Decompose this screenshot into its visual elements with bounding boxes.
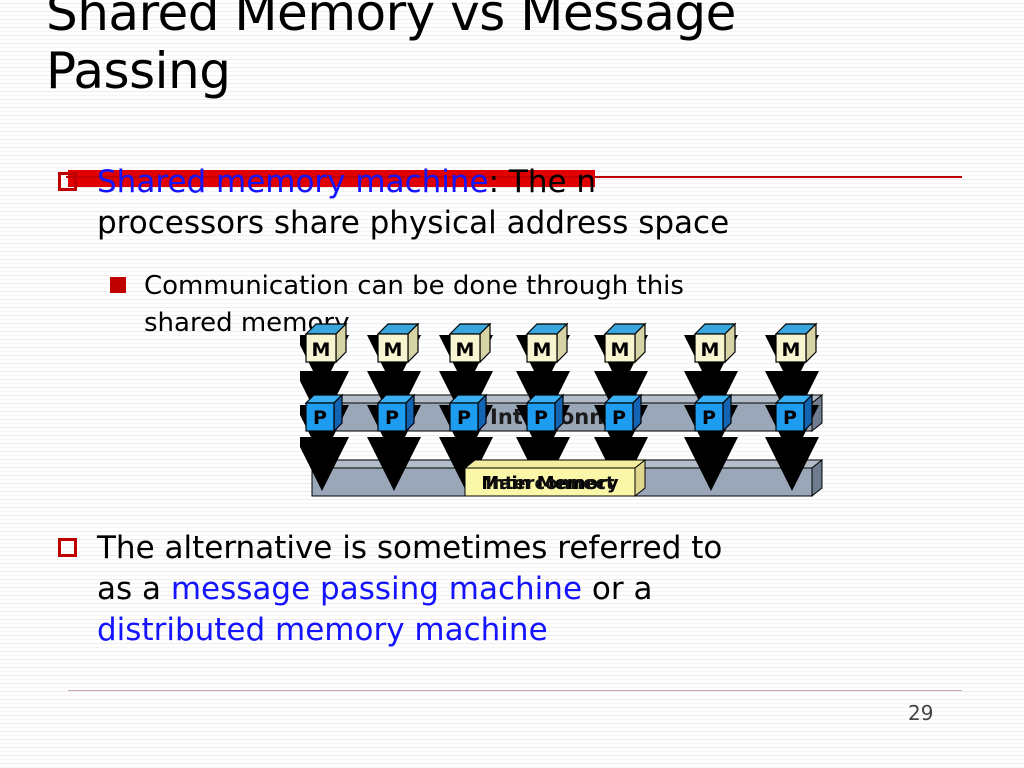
processor-node: P xyxy=(378,395,414,431)
svg-text:P: P xyxy=(702,407,716,429)
svg-text:P: P xyxy=(313,407,327,429)
hollow-square-bullet-icon xyxy=(58,538,77,557)
svg-text:P: P xyxy=(457,407,471,429)
svg-text:P: P xyxy=(612,407,626,429)
hollow-square-bullet-icon xyxy=(58,172,77,191)
svg-text:P: P xyxy=(534,407,548,429)
bullet-alternative: The alternative is sometimes referred to… xyxy=(58,528,978,651)
interconnect-label-overlap: Interconnect xyxy=(485,473,615,494)
page-number: 29 xyxy=(908,701,933,725)
term-shared-memory-machine: Shared memory machine xyxy=(97,164,489,200)
svg-text:M: M xyxy=(533,339,552,361)
bullet-shared-memory: Shared memory machine: The n processors … xyxy=(58,162,958,244)
page-title: Shared Memory vs Message Passing xyxy=(46,0,926,100)
processor-node: P xyxy=(695,395,731,431)
svg-text:P: P xyxy=(385,407,399,429)
memory-node: M xyxy=(378,324,418,362)
memory-nodes: M M M M xyxy=(306,324,816,362)
shared-memory-architecture-diagram: Interconnect xyxy=(300,320,830,510)
memory-processor-arrows xyxy=(322,362,792,398)
svg-text:M: M xyxy=(701,339,720,361)
processor-node: P xyxy=(450,395,486,431)
bullet-alternative-conj: or a xyxy=(582,571,652,607)
svg-text:M: M xyxy=(384,339,403,361)
processor-node: P xyxy=(527,395,563,431)
svg-text:M: M xyxy=(782,339,801,361)
processor-node: P xyxy=(306,395,342,431)
solid-square-bullet-icon xyxy=(110,277,126,293)
processor-node: P xyxy=(605,395,641,431)
svg-text:M: M xyxy=(611,339,630,361)
memory-node: M xyxy=(695,324,735,362)
memory-node: M xyxy=(450,324,490,362)
bullet-alternative-text: The alternative is sometimes referred to… xyxy=(97,528,722,651)
memory-node: M xyxy=(527,324,567,362)
memory-node: M xyxy=(306,324,346,362)
svg-text:M: M xyxy=(312,339,331,361)
svg-text:P: P xyxy=(783,407,797,429)
svg-text:M: M xyxy=(456,339,475,361)
main-memory-plate: Main Memory Interconnect xyxy=(465,460,645,496)
footer-divider xyxy=(68,690,962,691)
bullet-shared-memory-text: Shared memory machine: The n processors … xyxy=(97,162,729,244)
memory-node: M xyxy=(605,324,645,362)
processor-memory-arrows xyxy=(322,432,792,464)
term-message-passing-machine: message passing machine xyxy=(171,571,582,607)
term-distributed-memory-machine: distributed memory machine xyxy=(97,612,548,648)
processor-node: P xyxy=(776,395,812,431)
memory-node: M xyxy=(776,324,816,362)
